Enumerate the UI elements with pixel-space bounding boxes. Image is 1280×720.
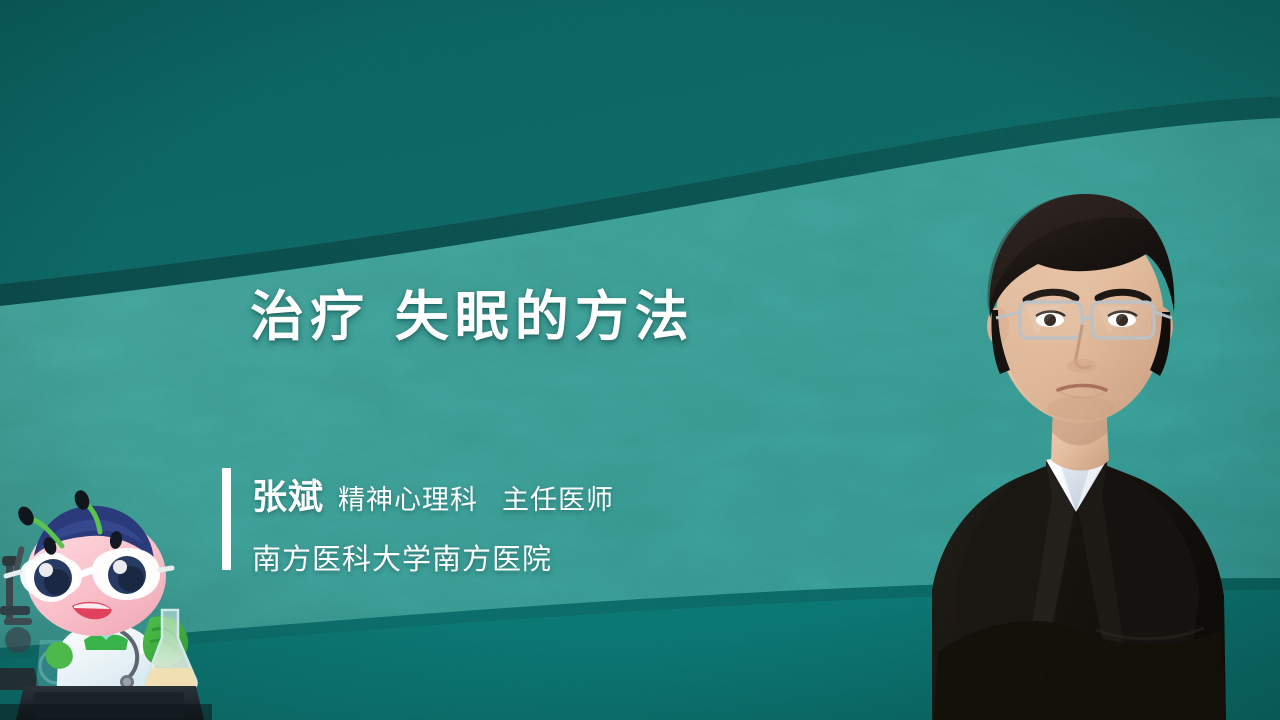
presenter-name: 张斌 — [252, 469, 324, 520]
presenter-line-2: 南方医科大学南方医院 — [252, 536, 614, 578]
doctor-portrait-photo — [860, 160, 1280, 720]
mascot-illustration — [0, 490, 212, 720]
presenter-line-1: 张斌 精神心理科 主任医师 — [252, 469, 614, 520]
presenter-block: 张斌 精神心理科 主任医师 南方医科大学南方医院 — [222, 468, 614, 578]
presenter-text: 张斌 精神心理科 主任医师 南方医科大学南方医院 — [252, 468, 614, 578]
accent-bar — [222, 468, 231, 570]
page-title: 治疗 失眠的方法 — [250, 272, 695, 351]
portrait-illustration — [860, 160, 1280, 720]
presenter-hospital: 南方医科大学南方医院 — [252, 536, 552, 578]
presenter-role: 主任医师 — [502, 478, 614, 517]
presentation-slide: 治疗 失眠的方法 张斌 精神心理科 主任医师 南方医科大学南方医院 — [0, 0, 1280, 720]
presenter-department: 精神心理科 — [338, 478, 478, 517]
cartoon-scientist-mascot-icon — [0, 490, 212, 720]
